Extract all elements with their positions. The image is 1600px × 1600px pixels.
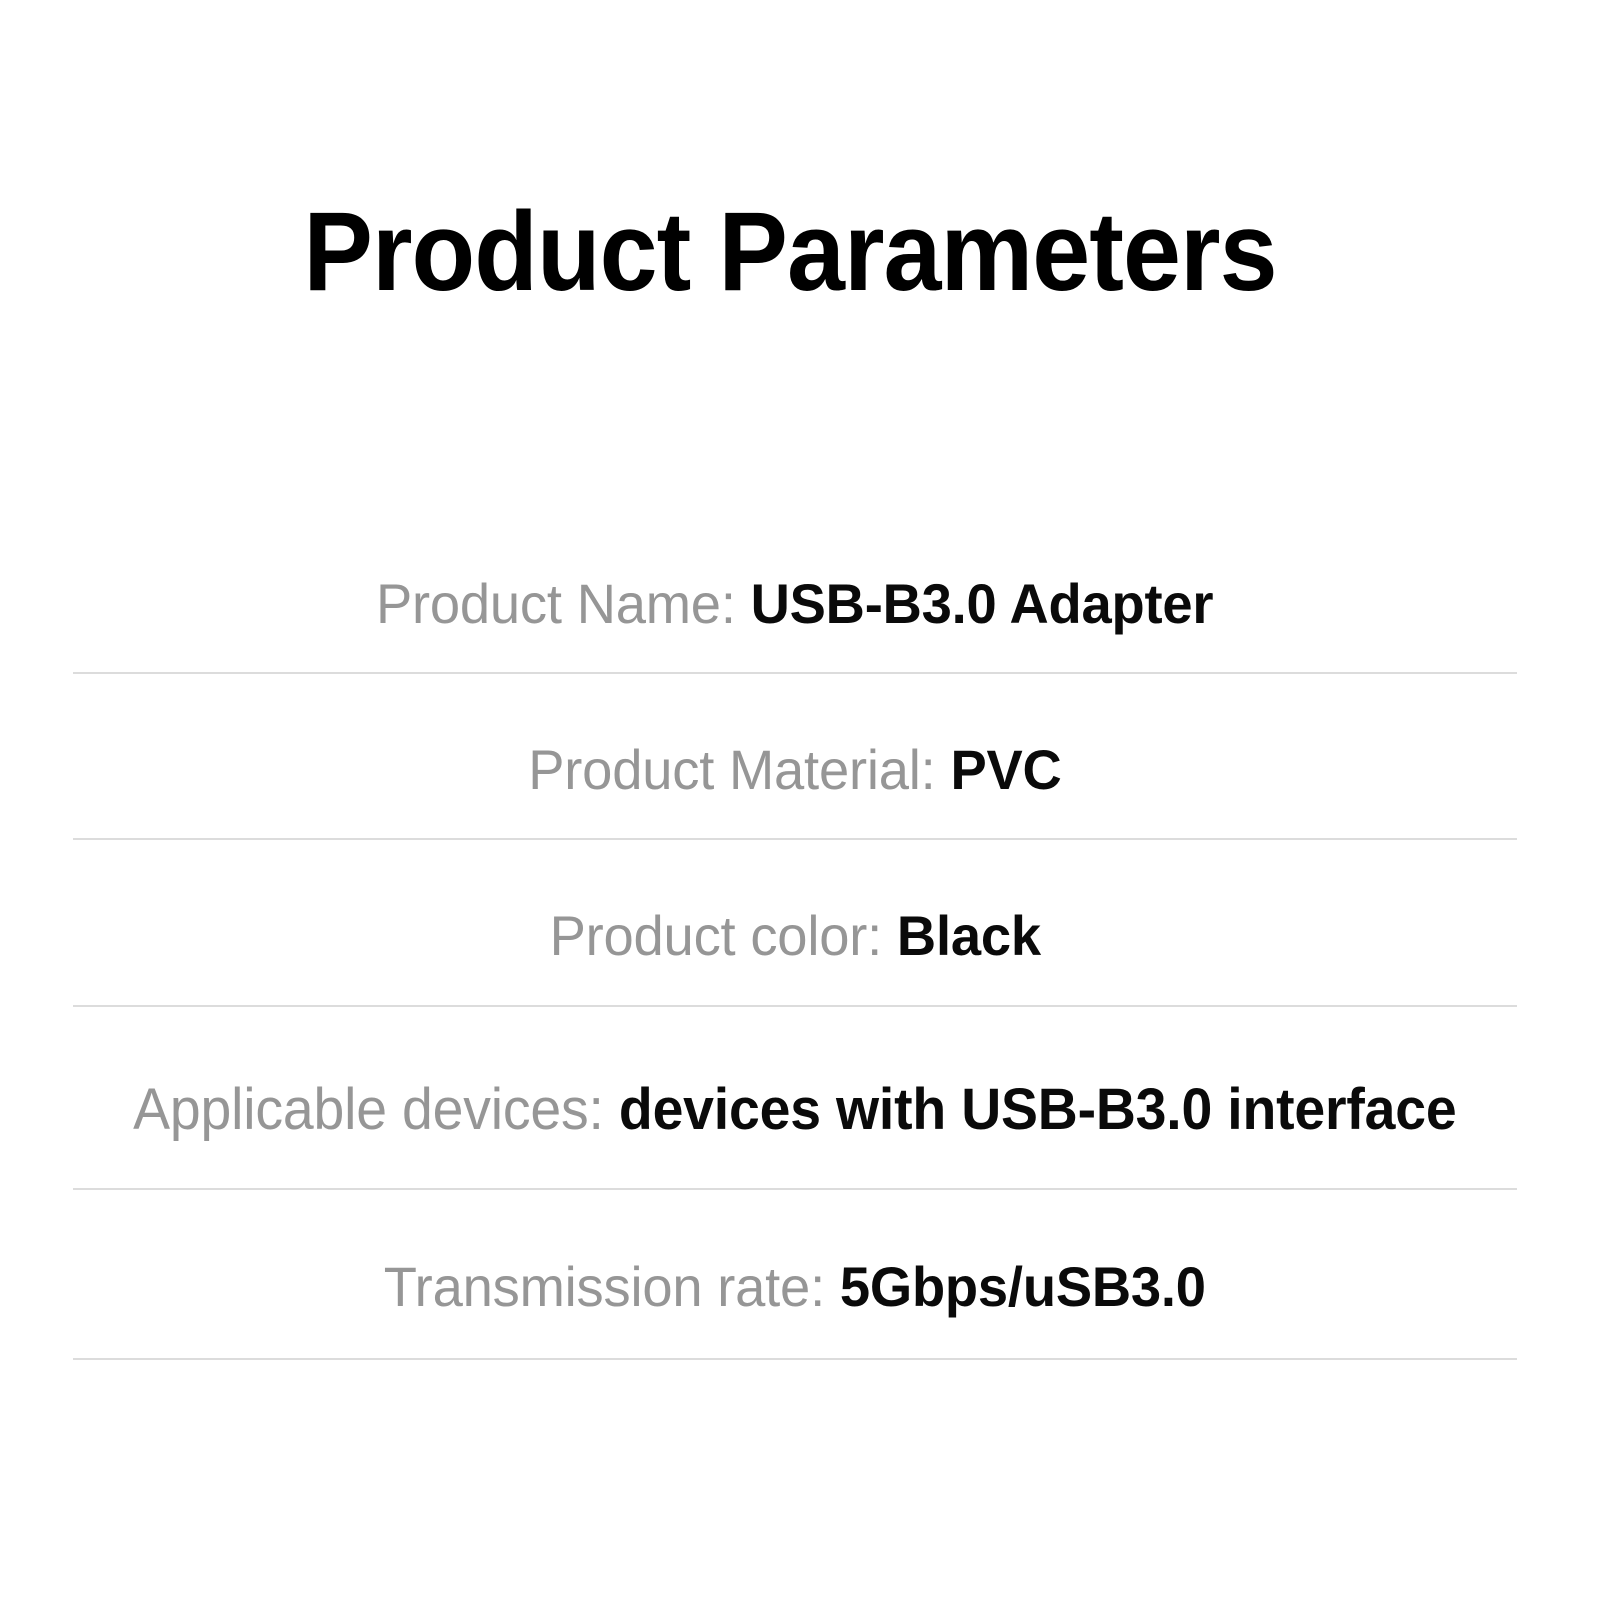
table-row: Product color: Black <box>0 852 1590 1018</box>
spec-label-transmission-rate: Transmission rate: <box>384 1255 840 1318</box>
table-row: Applicable devices: devices with USB-B3.… <box>0 1018 1590 1201</box>
spec-value-product-material: PVC <box>951 738 1062 801</box>
row-divider <box>73 1005 1517 1007</box>
row-divider <box>73 672 1517 674</box>
spec-value-transmission-rate: 5Gbps/uSB3.0 <box>840 1255 1206 1318</box>
row-content: Product color: Black <box>549 903 1040 968</box>
row-divider <box>73 838 1517 840</box>
spec-label-product-material: Product Material: <box>528 738 950 801</box>
row-content: Product Name: USB-B3.0 Adapter <box>376 571 1213 636</box>
page-title: Product Parameters <box>55 196 1524 308</box>
table-row: Transmission rate: 5Gbps/uSB3.0 <box>0 1201 1590 1371</box>
row-content: Product Material: PVC <box>528 737 1061 802</box>
row-content: Transmission rate: 5Gbps/uSB3.0 <box>384 1254 1206 1319</box>
spec-table: Product Name: USB-B3.0 Adapter Product M… <box>0 520 1590 1371</box>
spec-value-product-name: USB-B3.0 Adapter <box>751 572 1214 635</box>
product-parameters-page: Product Parameters Product Name: USB-B3.… <box>0 0 1600 1600</box>
table-row: Product Material: PVC <box>0 686 1590 852</box>
spec-value-applicable-devices: devices with USB-B3.0 interface <box>619 1077 1457 1142</box>
row-content: Applicable devices: devices with USB-B3.… <box>133 1076 1456 1143</box>
table-row: Product Name: USB-B3.0 Adapter <box>0 520 1590 686</box>
row-divider <box>73 1358 1517 1360</box>
spec-label-applicable-devices: Applicable devices: <box>133 1077 619 1142</box>
spec-label-product-name: Product Name: <box>376 572 751 635</box>
row-divider <box>73 1188 1517 1190</box>
spec-value-product-color: Black <box>897 904 1041 967</box>
spec-label-product-color: Product color: <box>549 904 896 967</box>
